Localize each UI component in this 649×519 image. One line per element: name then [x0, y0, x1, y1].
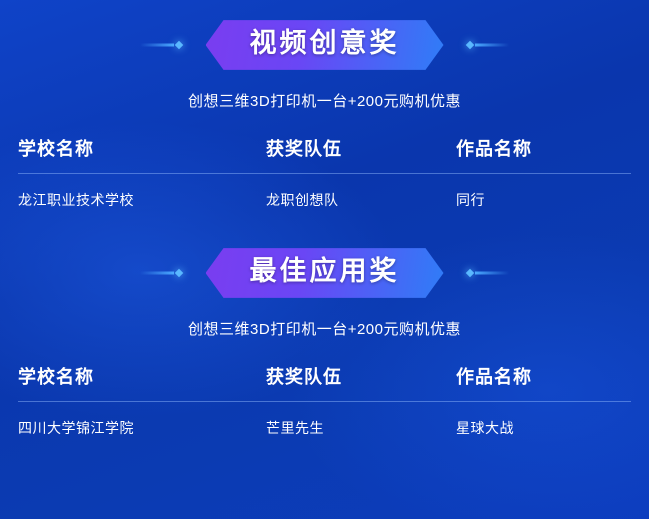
award-table-header-1: 学校名称 获奖队伍 作品名称: [18, 135, 631, 174]
banner-wing-right-icon-2: [475, 272, 509, 275]
award-table-2: 学校名称 获奖队伍 作品名称 四川大学锦江学院 芒里先生 星球大战: [18, 363, 631, 438]
award-banner-wrap-2: 最佳应用奖: [0, 244, 649, 302]
cell-school-1: 龙江职业技术学校: [18, 190, 266, 210]
award-title-2: 最佳应用奖: [250, 255, 400, 289]
cell-work-2: 星球大战: [456, 418, 631, 438]
cell-school-2: 四川大学锦江学院: [18, 418, 266, 438]
banner-diamond-right-icon-2: [466, 269, 474, 277]
award-banner-1: 视频创意奖: [206, 20, 444, 70]
cell-work-1: 同行: [456, 190, 631, 210]
column-header-school-1: 学校名称: [18, 135, 266, 161]
award-prize-2: 创想三维3D打印机一台+200元购机优惠: [0, 318, 649, 339]
cell-team-1: 龙职创想队: [266, 190, 456, 210]
column-header-school-2: 学校名称: [18, 363, 266, 389]
award-banner-wrap-1: 视频创意奖: [0, 16, 649, 74]
column-header-team-2: 获奖队伍: [266, 363, 456, 389]
award-section-best-application: 最佳应用奖 创想三维3D打印机一台+200元购机优惠 学校名称 获奖队伍 作品名…: [0, 244, 649, 438]
table-row: 龙江职业技术学校 龙职创想队 同行: [18, 174, 631, 210]
award-table-1: 学校名称 获奖队伍 作品名称 龙江职业技术学校 龙职创想队 同行: [18, 135, 631, 210]
banner-diamond-right-icon-1: [466, 41, 474, 49]
column-header-work-2: 作品名称: [456, 363, 631, 389]
award-list-page: 视频创意奖 创想三维3D打印机一台+200元购机优惠 学校名称 获奖队伍 作品名…: [0, 0, 649, 519]
column-header-work-1: 作品名称: [456, 135, 631, 161]
award-prize-1: 创想三维3D打印机一台+200元购机优惠: [0, 90, 649, 111]
banner-diamond-left-icon-2: [175, 269, 183, 277]
award-table-header-2: 学校名称 获奖队伍 作品名称: [18, 363, 631, 402]
award-title-1: 视频创意奖: [250, 27, 400, 61]
banner-wing-left-icon-1: [140, 44, 174, 47]
award-banner-2: 最佳应用奖: [206, 248, 444, 298]
banner-wing-left-icon-2: [140, 272, 174, 275]
banner-diamond-left-icon-1: [175, 41, 183, 49]
column-header-team-1: 获奖队伍: [266, 135, 456, 161]
cell-team-2: 芒里先生: [266, 418, 456, 438]
section-divider-space: [0, 210, 649, 244]
award-section-video-creative: 视频创意奖 创想三维3D打印机一台+200元购机优惠 学校名称 获奖队伍 作品名…: [0, 16, 649, 210]
banner-wing-right-icon-1: [475, 44, 509, 47]
table-row: 四川大学锦江学院 芒里先生 星球大战: [18, 402, 631, 438]
